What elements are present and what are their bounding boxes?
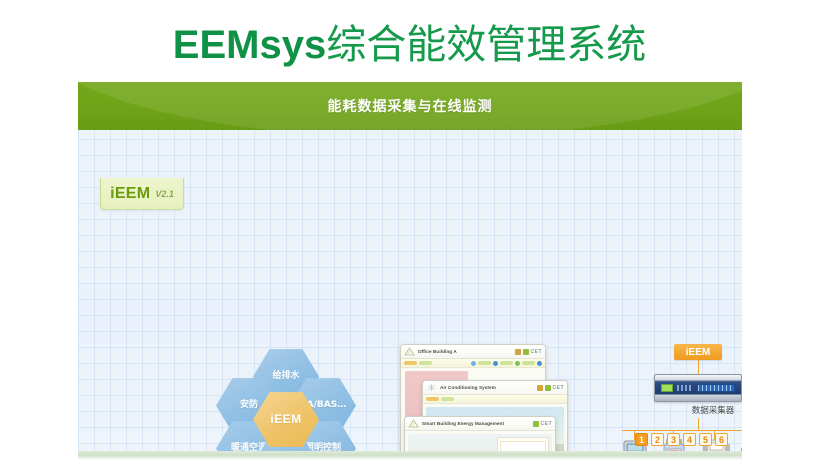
page-title-cjk: 综合能效管理系统 [326,22,646,68]
refresh-icon[interactable] [515,349,521,355]
connector-line [698,418,699,430]
window-controls[interactable]: CET [537,385,565,391]
home-icon[interactable] [533,421,539,427]
page-title: EEMsys综合能效管理系统 [0,12,819,70]
connector-line [698,360,699,374]
toolbar-pill[interactable] [522,361,535,365]
page-button-4[interactable]: 4 [683,433,696,446]
home-icon[interactable] [545,385,551,391]
window-toolbar[interactable] [423,395,567,404]
brand-label: CET [541,421,553,427]
ieem-tag-badge: iEEM [674,344,722,360]
banner-title: 能耗数据采集与在线监测 [78,96,742,116]
app-logo-icon [408,419,419,428]
toolbar-pill[interactable] [478,361,491,365]
pagination[interactable]: 1 2 3 4 5 6 [635,433,728,446]
toolbar-pill[interactable] [404,361,417,365]
device-display [697,384,735,392]
page-button-2[interactable]: 2 [651,433,664,446]
toolbar-pill[interactable] [500,361,513,365]
panel-bottom-strip [78,451,742,460]
window-title: Smart Building Energy Management [422,421,504,426]
page-button-6[interactable]: 6 [715,433,728,446]
panel-banner: 能耗数据采集与在线监测 [78,82,742,130]
content-panel: 能耗数据采集与在线监测 iEEM V2.1 给排水 安防 BA/BAS… 暖通空… [78,82,742,460]
hex-cluster: 给排水 安防 BA/BAS… 暖通空调 照明控制 电梯控制 iEEM [218,348,388,460]
window-toolbar[interactable] [401,359,545,368]
window-controls[interactable]: CET [533,421,553,427]
page-button-1[interactable]: 1 [635,433,648,446]
status-led [661,384,673,392]
page-title-latin: EEMsys [173,23,326,67]
window-titlebar: Air Conditioning System CET [423,381,567,395]
brand-label: CET [553,385,565,391]
home-icon[interactable] [523,349,529,355]
ieem-badge-version: V2.1 [155,189,174,199]
toolbar-icon[interactable] [471,361,476,366]
toolbar-icon[interactable] [537,361,542,366]
panel-body: iEEM V2.1 给排水 安防 BA/BAS… 暖通空调 照明控制 电梯控制 … [78,130,742,460]
collector-label: 数据采集器 [618,404,742,416]
ieem-badge-name: iEEM [110,185,150,203]
page-button-5[interactable]: 5 [699,433,712,446]
screenshot-stack: Office Building A CET [394,344,570,460]
toolbar-icon[interactable] [515,361,520,366]
brand-label: CET [531,349,543,355]
port-dots [677,385,691,391]
data-collector-device [654,374,742,402]
toolbar-pill[interactable] [441,397,454,401]
toolbar-icon[interactable] [493,361,498,366]
window-title: Office Building A [418,349,457,354]
slide-root: EEMsys综合能效管理系统 能耗数据采集与在线监测 iEEM V2.1 给排水… [0,0,819,472]
toolbar-pill[interactable] [419,361,432,365]
toolbar-pill[interactable] [426,397,439,401]
app-logo-icon [404,347,415,356]
window-controls[interactable]: CET [515,349,543,355]
window-titlebar: Smart Building Energy Management CET [405,417,555,431]
snowflake-icon [426,383,437,392]
page-button-3[interactable]: 3 [667,433,680,446]
refresh-icon[interactable] [537,385,543,391]
window-title: Air Conditioning System [440,385,496,390]
ieem-version-badge: iEEM V2.1 [100,178,184,210]
window-titlebar: Office Building A CET [401,345,545,359]
